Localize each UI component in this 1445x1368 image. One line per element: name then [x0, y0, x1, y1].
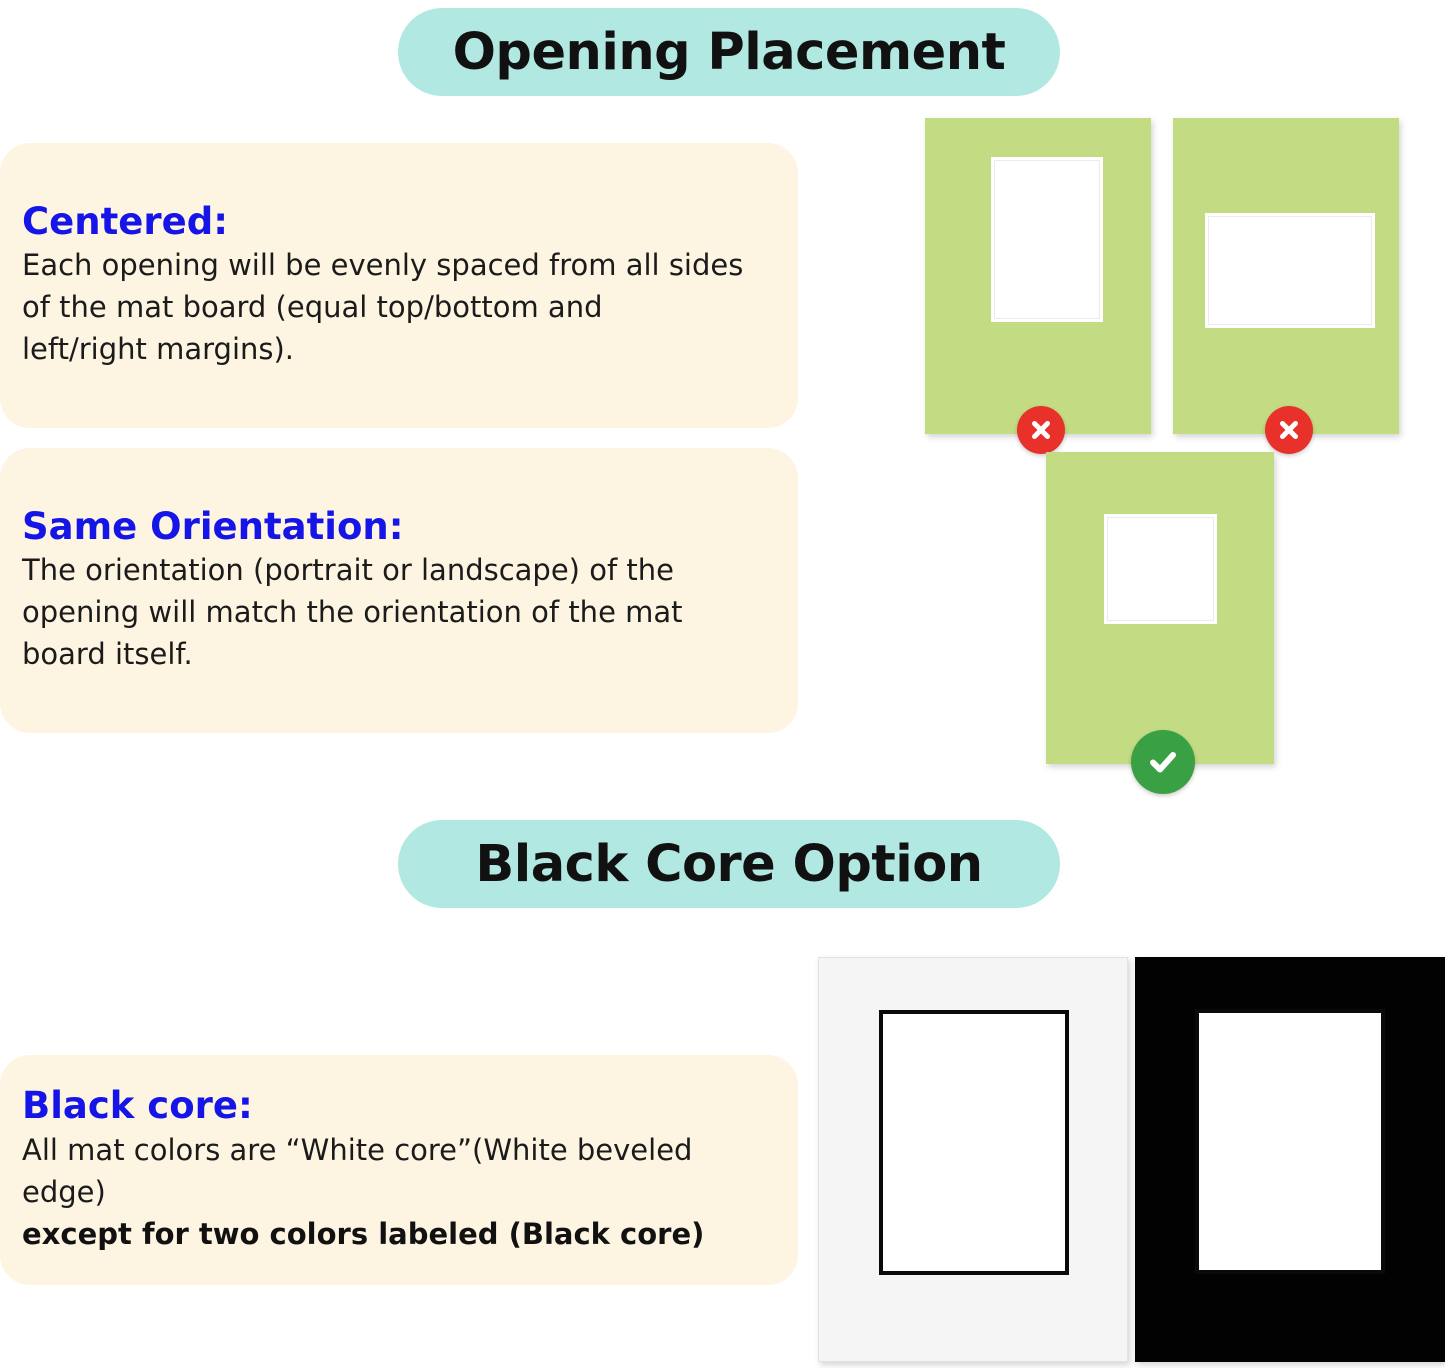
- mat-opening-landscape: [1205, 213, 1375, 328]
- panel-title-same-orientation: Same Orientation:: [22, 506, 776, 547]
- panel-title-centered: Centered:: [22, 201, 776, 242]
- panel-body-black-core: All mat colors are “White core”(White be…: [22, 1129, 776, 1213]
- section-title-text: Opening Placement: [453, 23, 1006, 82]
- mat-opening-black-mat: [1195, 1009, 1385, 1274]
- mat-board-off-center-portrait: [925, 118, 1151, 434]
- cross-icon: [1276, 417, 1302, 443]
- info-panel-centered: Centered: Each opening will be evenly sp…: [0, 143, 798, 428]
- info-panel-black-core: Black core: All mat colors are “White co…: [0, 1055, 798, 1285]
- mat-opening-centered-portrait: [1104, 514, 1217, 624]
- mat-board-black-black-core: [1135, 957, 1445, 1362]
- infographic-page: Opening Placement Centered: Each opening…: [0, 0, 1445, 1368]
- check-icon: [1145, 744, 1181, 780]
- status-badge-incorrect-1: [1017, 406, 1065, 454]
- cross-icon: [1028, 417, 1054, 443]
- panel-title-black-core: Black core:: [22, 1085, 776, 1126]
- section-header-opening-placement: Opening Placement: [398, 8, 1060, 96]
- info-panel-same-orientation: Same Orientation: The orientation (portr…: [0, 448, 798, 733]
- panel-body-centered: Each opening will be evenly spaced from …: [22, 244, 776, 370]
- mat-board-white-black-core: [818, 957, 1128, 1362]
- mat-board-landscape-opening: [1173, 118, 1399, 434]
- mat-opening-portrait: [991, 157, 1103, 322]
- status-badge-correct: [1131, 730, 1195, 794]
- section-header-black-core-option: Black Core Option: [398, 820, 1060, 908]
- mat-board-centered-portrait: [1046, 452, 1274, 764]
- mat-opening-white-mat: [879, 1010, 1069, 1275]
- panel-body-black-core-emphasis: except for two colors labeled (Black cor…: [22, 1213, 776, 1255]
- section-title-text: Black Core Option: [475, 835, 982, 894]
- panel-body-same-orientation: The orientation (portrait or landscape) …: [22, 549, 776, 675]
- status-badge-incorrect-2: [1265, 406, 1313, 454]
